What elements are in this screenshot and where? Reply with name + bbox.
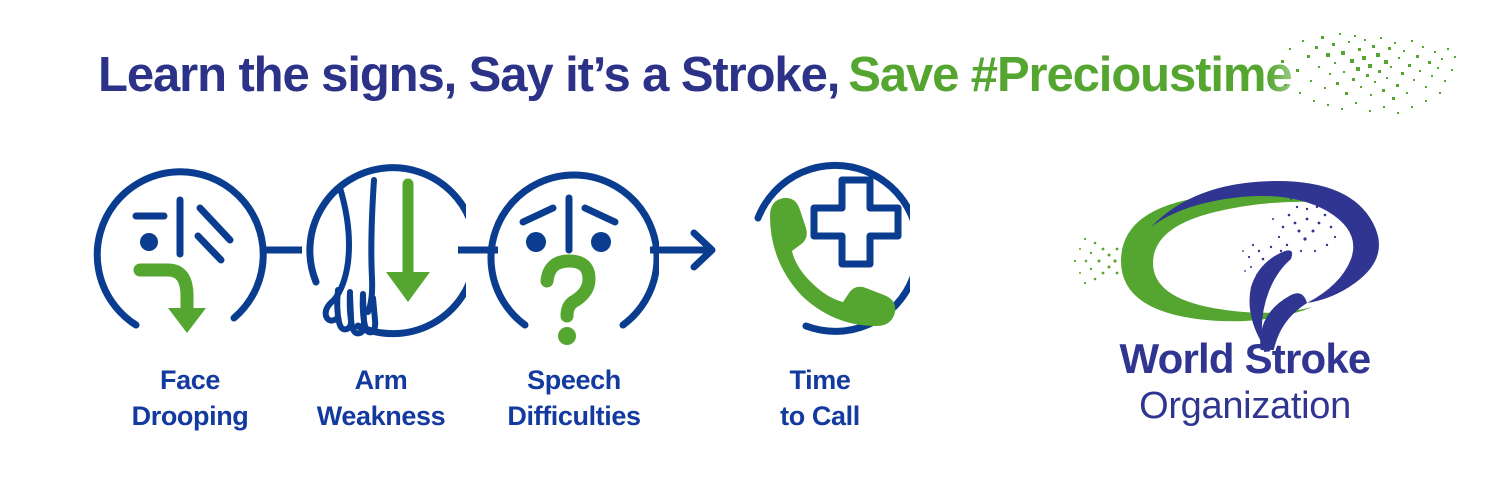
arrow-right-icon — [650, 228, 720, 272]
label-line-2: to Call — [705, 398, 935, 434]
arm-weakness-icon — [286, 150, 466, 350]
logo-line-1: World Stroke — [1055, 335, 1435, 383]
label-speech-difficulties: Speech Difficulties — [459, 362, 689, 434]
label-line-1: Arm — [355, 365, 408, 395]
stroke-awareness-banner: Learn the signs, Say it’s a Stroke,Save … — [0, 0, 1500, 500]
world-stroke-organization-logo-mark — [1055, 175, 1435, 350]
logo-line-2: Organization — [1055, 383, 1435, 429]
headline-green-text: Save #Preciousti — [848, 48, 1223, 102]
label-line-2: Difficulties — [459, 398, 689, 434]
speech-difficulties-icon — [479, 150, 659, 350]
label-line-1: Time — [790, 365, 851, 395]
headline-blue-text: Learn the signs, Say it’s a Stroke, — [98, 48, 839, 102]
logo-wordmark: World Stroke Organization — [1055, 335, 1435, 429]
stroke-signs-icon-row — [90, 150, 940, 350]
time-to-call-icon — [730, 150, 910, 350]
world-stroke-organization-logo: World Stroke Organization — [1055, 175, 1435, 445]
page-title: Learn the signs, Say it’s a Stroke,Save … — [98, 40, 1458, 120]
label-line-1: Speech — [527, 365, 621, 395]
label-time-to-call: Time to Call — [705, 362, 935, 434]
face-drooping-icon — [90, 150, 270, 350]
particle-cloud-decoration — [1255, 22, 1460, 132]
label-line-1: Face — [160, 365, 220, 395]
